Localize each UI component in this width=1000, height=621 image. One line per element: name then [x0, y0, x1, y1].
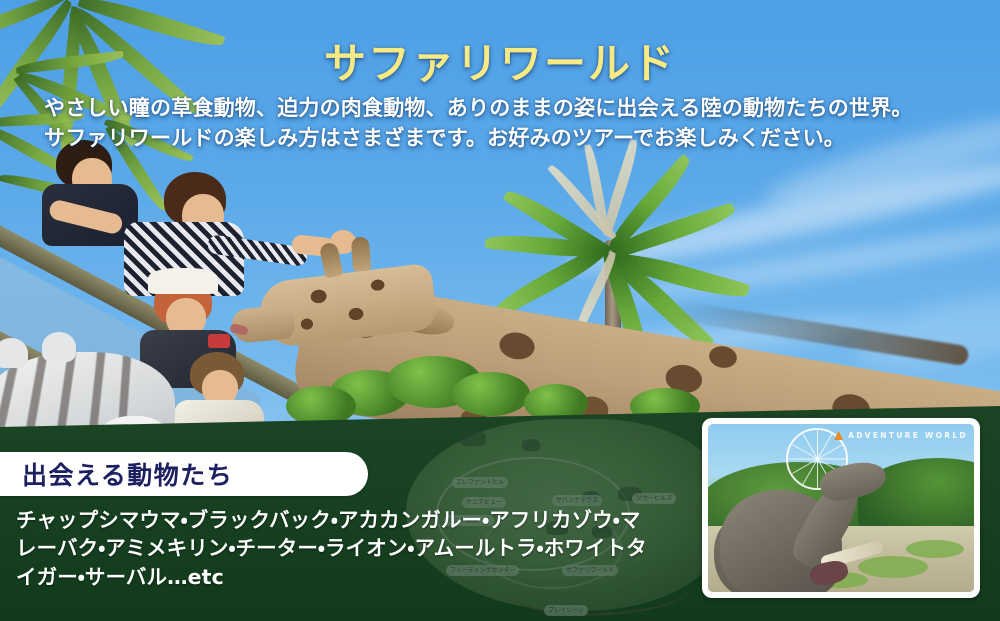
map-animal-icon	[460, 431, 486, 446]
animal-list-line-3: イガー・サーバル…etc	[16, 563, 676, 591]
animal-list-line-2: レーバク・アミメキリン・チーター・ライオン・アムールトラ・ホワイトタ	[16, 534, 676, 562]
elephant-photo: ADVENTURE WORLD	[708, 424, 974, 592]
hero-subtitle: やさしい瞳の草食動物、迫力の肉食動物、ありのままの姿に出会える陸の動物たちの世界…	[44, 94, 970, 154]
map-label: プレイゾーン	[544, 605, 588, 616]
watermark-text: ADVENTURE WORLD	[848, 431, 968, 440]
map-label: サバンナテラス	[552, 495, 602, 506]
giraffe-ossicone	[351, 236, 371, 271]
photo-grass-patch	[906, 540, 964, 558]
giraffe-ossicone	[319, 242, 344, 279]
section-heading-text: 出会える動物たち	[22, 456, 233, 492]
elephant	[712, 476, 877, 592]
map-animal-icon	[522, 439, 540, 451]
adventure-world-watermark: ADVENTURE WORLD	[834, 431, 968, 440]
hero-subtitle-line-2: サファリワールドの楽しみ方はさまざまです。お好みのツアーでお楽しみください。	[44, 124, 970, 154]
tiger-ear	[0, 338, 28, 368]
giraffe-snout	[230, 304, 295, 344]
map-label: エレファントヒル	[452, 477, 508, 488]
triangle-logo-icon	[834, 431, 843, 440]
map-label: ゾウーヒルズ	[632, 493, 676, 504]
hero-subtitle-line-1: やさしい瞳の草食動物、迫力の肉食動物、ありのままの姿に出会える陸の動物たちの世界…	[44, 94, 970, 124]
elephant-photo-card: ADVENTURE WORLD	[702, 418, 980, 598]
animal-list-line-1: チャップシマウマ・ブラックバック・アカカンガルー・アフリカゾウ・マ	[16, 506, 676, 534]
foliage-decor	[452, 372, 530, 416]
animal-list: チャップシマウマ・ブラックバック・アカカンガルー・アフリカゾウ・マ レーバク・ア…	[16, 506, 676, 591]
page-title: サファリワールド	[0, 30, 1000, 91]
tiger-ear	[42, 332, 76, 362]
safari-world-banner: サファリワールド やさしい瞳の草食動物、迫力の肉食動物、ありのままの姿に出会える…	[0, 0, 1000, 621]
section-heading-banner: 出会える動物たち	[0, 452, 368, 496]
